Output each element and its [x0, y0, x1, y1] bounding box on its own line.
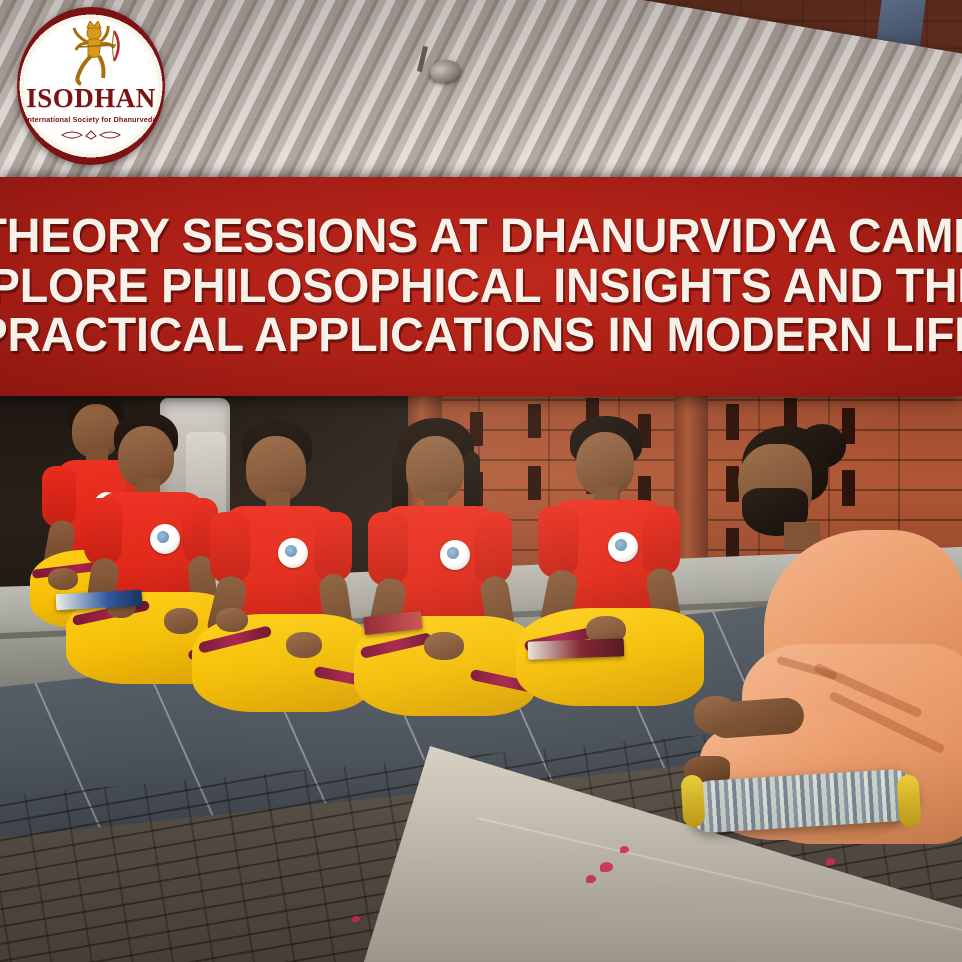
flower-petal — [586, 875, 596, 883]
flower-petal — [600, 862, 613, 872]
isodhan-logo[interactable]: ISODHAN International Society for Dhanur… — [17, 7, 165, 165]
hand — [424, 632, 464, 660]
isodhan-badge-icon — [150, 524, 180, 554]
isodhan-badge-icon — [278, 538, 308, 568]
sleeve-left — [42, 466, 76, 528]
book-right — [528, 638, 625, 659]
hand — [694, 696, 738, 734]
title-line-2: EXPLORE PHILOSOPHICAL INSIGHTS AND THEIR — [0, 262, 962, 312]
sleeve-left — [210, 512, 250, 584]
vent-slot-icon — [842, 470, 855, 506]
mat-end-cap — [896, 774, 921, 827]
vent-slot-icon — [528, 404, 541, 438]
isodhan-badge-icon — [440, 540, 470, 570]
vent-slot-icon — [726, 528, 739, 558]
hand — [48, 568, 78, 590]
hand — [216, 608, 248, 632]
flower-petal — [352, 916, 360, 922]
hand — [164, 608, 198, 634]
vent-slot-icon — [726, 466, 739, 502]
logo-title: ISODHAN — [17, 85, 165, 112]
sleeve-right — [642, 506, 680, 576]
sleeve-left — [84, 498, 122, 566]
vent-slot-icon — [528, 466, 541, 500]
sleeve-right — [314, 512, 352, 582]
vent-slot-icon — [726, 404, 739, 440]
sleeve-left — [368, 512, 408, 586]
logo-ornament-icon — [60, 127, 122, 139]
title-line-3: PRACTICAL APPLICATIONS IN MODERN LIFE — [0, 311, 962, 361]
title-line-1: THEORY SESSIONS AT DHANURVIDYA CAMP — [0, 212, 962, 262]
title-banner: THEORY SESSIONS AT DHANURVIDYA CAMP EXPL… — [0, 177, 962, 396]
mat-end-cap — [680, 774, 705, 827]
flower-petal — [826, 858, 835, 865]
poster: THEORY SESSIONS AT DHANURVIDYA CAMP EXPL… — [0, 0, 962, 962]
sleeve-left — [538, 506, 578, 578]
photo-background — [0, 0, 962, 962]
sleeve-right — [474, 512, 512, 584]
isodhan-badge-icon — [608, 532, 638, 562]
dhoti — [192, 614, 372, 712]
flower-petal — [620, 846, 629, 853]
logo-subtitle: International Society for Dhanurveda — [17, 115, 165, 124]
hand — [286, 632, 322, 658]
